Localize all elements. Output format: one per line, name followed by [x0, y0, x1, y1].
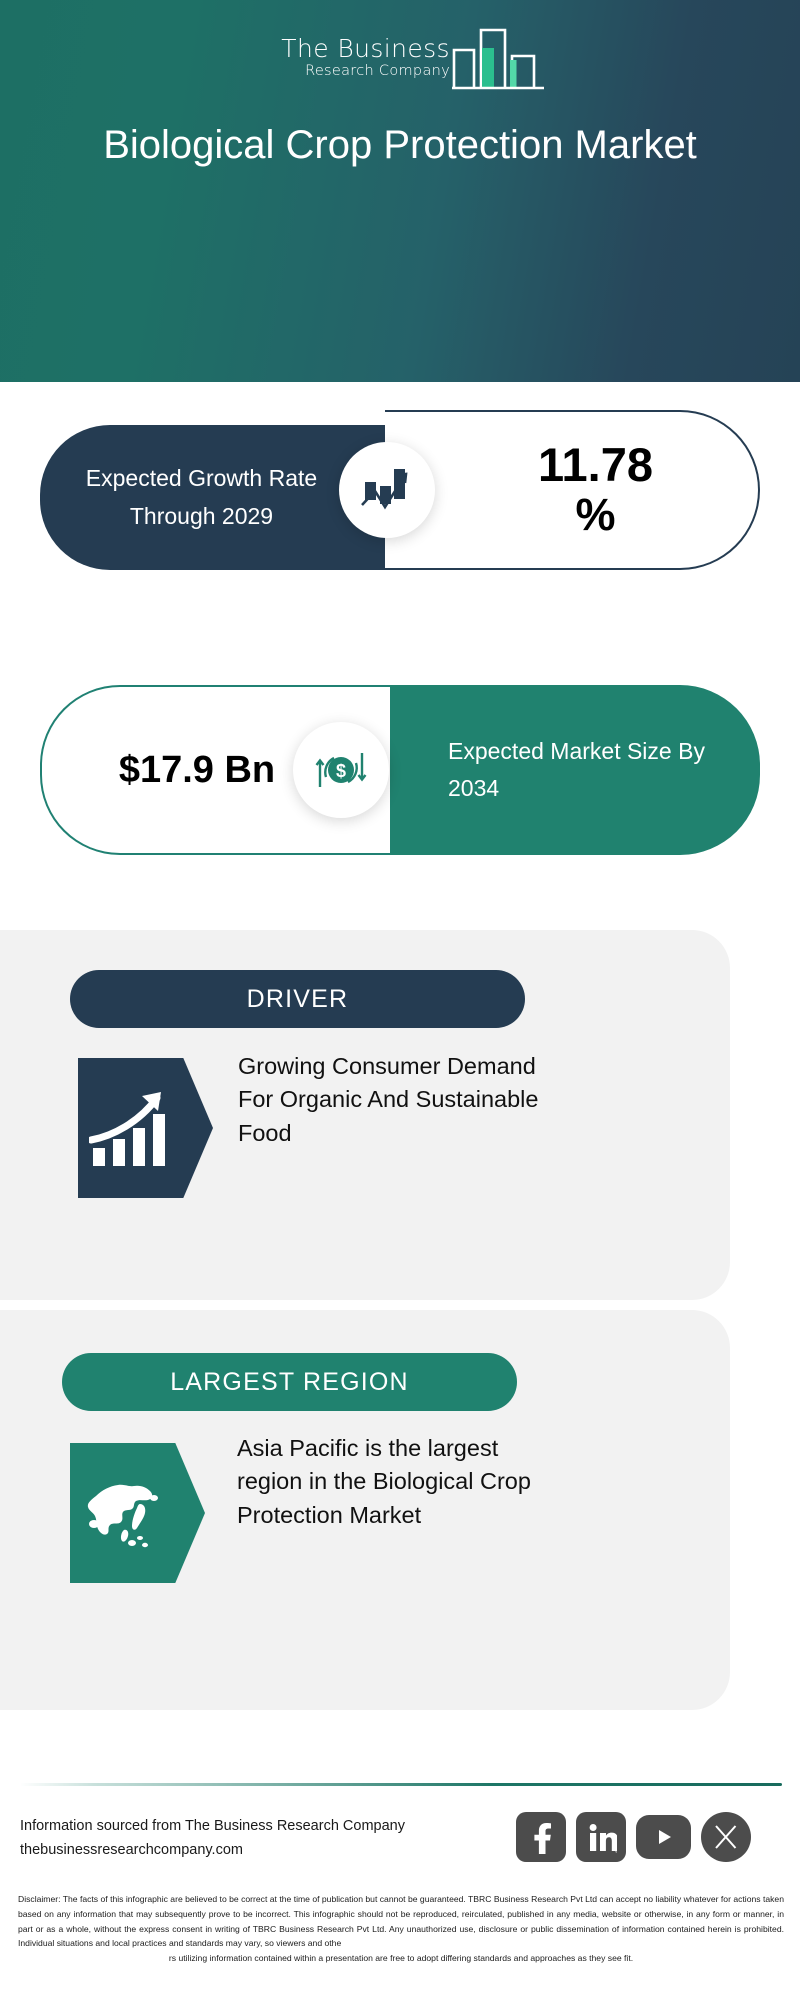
section-pill-largest-region: LARGEST REGION	[62, 1353, 517, 1411]
stat-card-label-panel: Expected Growth Rate Through 2029	[40, 425, 385, 570]
stat-value-number: 11.78	[538, 438, 653, 491]
section-body-largest-region: Asia Pacific is the largest region in th…	[237, 1432, 567, 1532]
footer-source-line-2[interactable]: thebusinessresearchcompany.com	[20, 1839, 480, 1863]
stat-card-value-panel: 11.78 %	[385, 410, 760, 570]
asia-pacific-map-icon	[70, 1443, 205, 1583]
stat-value-suffix: %	[538, 491, 653, 540]
section-pill-driver: DRIVER	[70, 970, 525, 1028]
youtube-icon[interactable]	[636, 1815, 691, 1859]
x-twitter-icon[interactable]	[701, 1812, 751, 1862]
bar-chart-logo-mark	[452, 26, 544, 101]
svg-text:®: ®	[615, 1848, 617, 1854]
logo-line-1: The Business	[250, 36, 450, 62]
dollar-cycle-icon: $	[293, 722, 389, 818]
growing-bar-chart-icon	[78, 1058, 213, 1198]
company-logo: The Business Research Company	[0, 26, 800, 98]
logo-line-2: Research Company	[250, 62, 450, 80]
section-driver: DRIVER Growing Consumer Demand For Organ…	[0, 930, 730, 1300]
footer-divider	[20, 1783, 782, 1786]
section-body-driver: Growing Consumer Demand For Organic And …	[238, 1050, 568, 1150]
pill-label: LARGEST REGION	[170, 1368, 409, 1397]
linkedin-icon[interactable]: ®	[576, 1812, 626, 1862]
stat-value: $17.9 Bn	[119, 749, 313, 792]
stat-value: 11.78 %	[490, 440, 653, 539]
header-banner: The Business Research Company Biological…	[0, 0, 800, 382]
stat-label: Expected Market Size By 2034	[390, 733, 760, 808]
infographic-page: The Business Research Company Biological…	[0, 0, 800, 2000]
pill-label: DRIVER	[247, 985, 349, 1014]
page-title: Biological Crop Protection Market	[60, 120, 740, 171]
disclaimer-text: Disclaimer: The facts of this infographi…	[18, 1892, 784, 1966]
svg-text:$: $	[336, 761, 346, 781]
stat-card-label-panel: Expected Market Size By 2034	[390, 685, 760, 855]
stat-card-market-size: $17.9 Bn Expected Market Size By 2034 $	[40, 685, 760, 855]
facebook-icon[interactable]	[516, 1812, 566, 1862]
stat-label: Expected Growth Rate Through 2029	[40, 460, 385, 535]
footer-source: Information sourced from The Business Re…	[20, 1815, 480, 1863]
disclaimer-main: Disclaimer: The facts of this infographi…	[18, 1894, 784, 1948]
stat-card-growth-rate: Expected Growth Rate Through 2029 11.78 …	[40, 410, 760, 570]
disclaimer-last-line: rs utilizing information contained withi…	[18, 1951, 784, 1966]
social-links: ®	[516, 1812, 751, 1862]
footer-source-line-1: Information sourced from The Business Re…	[20, 1815, 480, 1839]
section-largest-region: LARGEST REGION Asia Pacific is the large…	[0, 1310, 730, 1710]
growth-chart-arrow-icon	[339, 442, 435, 538]
